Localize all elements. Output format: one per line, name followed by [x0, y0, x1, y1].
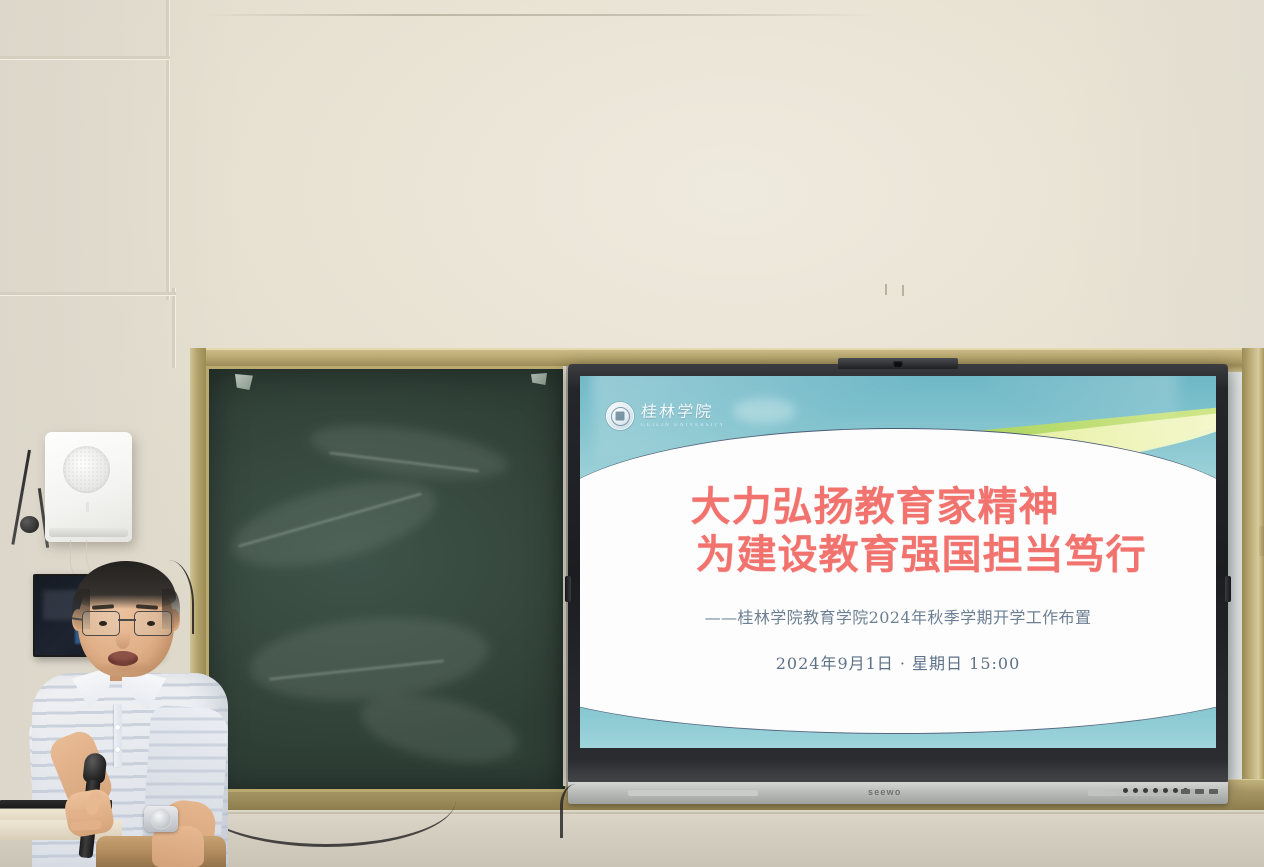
university-logo: 桂林学院 GUILIN UNIVERSITY	[606, 402, 725, 430]
presenter-chin-shadow	[92, 661, 158, 675]
presenter-hair	[76, 561, 176, 609]
classroom-scene: 桂林学院 GUILIN UNIVERSITY 大力弘扬教育家精神 为建设教育强国…	[0, 0, 1264, 867]
wireless-antenna	[14, 450, 38, 546]
slide-title-line-2: 为建设教育强国担当笃行	[626, 532, 1216, 578]
presenter-nose	[116, 631, 130, 649]
guilin-university-emblem-icon	[606, 402, 634, 430]
display-button[interactable]	[1143, 788, 1148, 793]
presenter-finger	[70, 820, 102, 831]
speaker-base-strip	[49, 528, 128, 537]
slide-title-block: 大力弘扬教育家精神 为建设教育强国担当笃行	[580, 484, 1216, 579]
watch-face	[151, 809, 172, 830]
slide-content: 大力弘扬教育家精神 为建设教育强国担当笃行 ——桂林学院教育学院2024年秋季学…	[580, 376, 1216, 748]
slide-subtitle: ——桂林学院教育学院2024年秋季学期开学工作布置	[705, 604, 1092, 628]
display-button[interactable]	[1173, 788, 1178, 793]
board-corner-clip	[531, 373, 547, 385]
shirt-button	[115, 747, 120, 752]
wristwatch	[144, 806, 178, 832]
display-control-strip: seewo	[568, 782, 1228, 804]
wall-panel-seam	[0, 292, 176, 295]
wall-marks	[885, 284, 911, 298]
usb-port[interactable]	[1195, 789, 1204, 794]
display-button[interactable]	[1153, 788, 1158, 793]
university-name-en: GUILIN UNIVERSITY	[641, 423, 725, 428]
interactive-flat-panel[interactable]: 桂林学院 GUILIN UNIVERSITY 大力弘扬教育家精神 为建设教育强国…	[568, 364, 1228, 784]
shirt-button	[115, 725, 120, 730]
slide-datetime: 2024年9月1日 · 星期日 15:00	[776, 650, 1021, 674]
display-button-row[interactable]	[1123, 788, 1188, 793]
wall-panel-seam	[0, 56, 170, 59]
display-brand-label: seewo	[868, 787, 902, 797]
shirt-placket	[114, 705, 122, 767]
display-screen[interactable]: 桂林学院 GUILIN UNIVERSITY 大力弘扬教育家精神 为建设教育强国…	[580, 376, 1216, 748]
chalk-smudge	[355, 683, 524, 775]
speaker-led	[86, 502, 89, 512]
speaker-grille-icon	[63, 446, 110, 493]
wall-panel-seam	[166, 0, 169, 300]
presentation-slide: 桂林学院 GUILIN UNIVERSITY 大力弘扬教育家精神 为建设教育强国…	[580, 376, 1216, 748]
usb-port[interactable]	[1209, 789, 1218, 794]
wall-mounted-speaker	[45, 432, 132, 542]
wall-panel-seam	[172, 288, 175, 368]
chalkboard-slide-handle[interactable]	[1259, 526, 1264, 556]
green-chalkboard[interactable]	[206, 366, 568, 792]
ceiling-crack	[200, 14, 880, 16]
camera-icon	[838, 358, 958, 369]
power-cable	[560, 784, 599, 838]
chalk-smudge	[246, 609, 492, 710]
display-side-button-left[interactable]	[565, 576, 571, 602]
chalk-smudge	[224, 465, 445, 584]
display-side-button-right[interactable]	[1225, 576, 1231, 602]
slide-title-line-1: 大力弘扬教育家精神	[580, 484, 1216, 530]
display-usb-ports[interactable]	[1181, 789, 1218, 794]
board-corner-clip	[235, 374, 253, 390]
presenter-right-hand	[152, 826, 204, 867]
display-button[interactable]	[1123, 788, 1128, 793]
display-button[interactable]	[1163, 788, 1168, 793]
display-button[interactable]	[1133, 788, 1138, 793]
university-name-cn: 桂林学院	[640, 404, 726, 420]
display-vent-slot	[628, 790, 758, 796]
university-name: 桂林学院 GUILIN UNIVERSITY	[641, 404, 725, 428]
frame-rail-right	[1242, 348, 1264, 810]
usb-port[interactable]	[1181, 789, 1190, 794]
